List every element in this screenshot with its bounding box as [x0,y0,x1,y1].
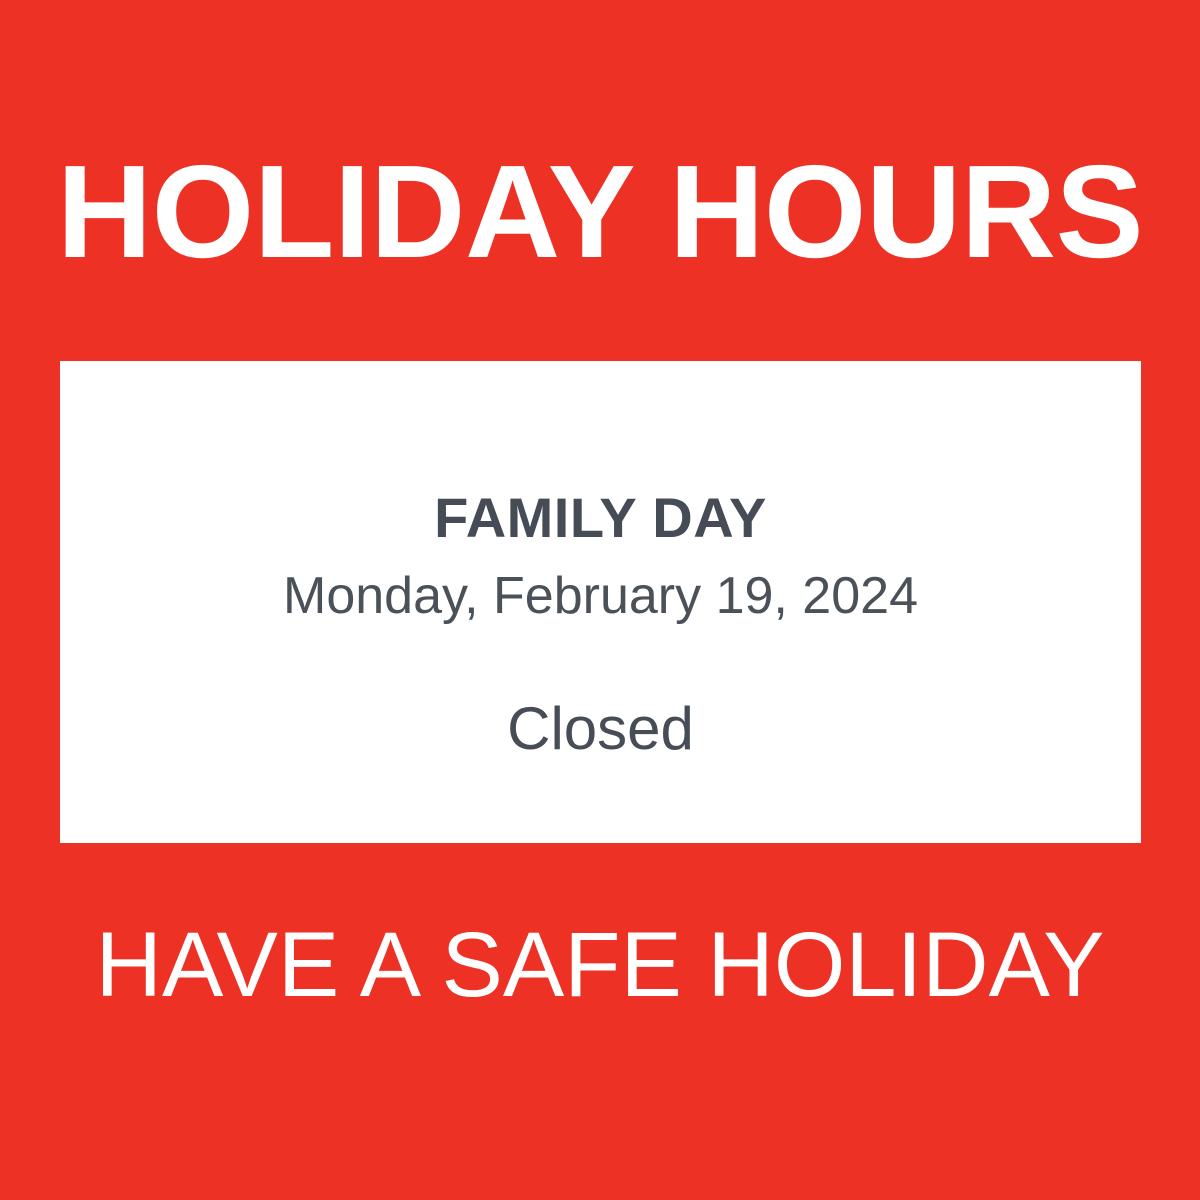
poster-footer-message: HAVE A SAFE HOLIDAY [0,913,1200,1017]
page-title: HOLIDAY HOURS [0,142,1200,282]
holiday-hours-poster: HOLIDAY HOURS FAMILY DAY Monday, Februar… [0,0,1200,1200]
holiday-name: FAMILY DAY [60,487,1141,549]
status-badge: Closed [60,696,1141,762]
holiday-date: Monday, February 19, 2024 [60,567,1141,625]
holiday-notice-content: FAMILY DAY Monday, February 19, 2024 Clo… [60,361,1141,843]
holiday-notice-card: FAMILY DAY Monday, February 19, 2024 Clo… [60,361,1141,843]
